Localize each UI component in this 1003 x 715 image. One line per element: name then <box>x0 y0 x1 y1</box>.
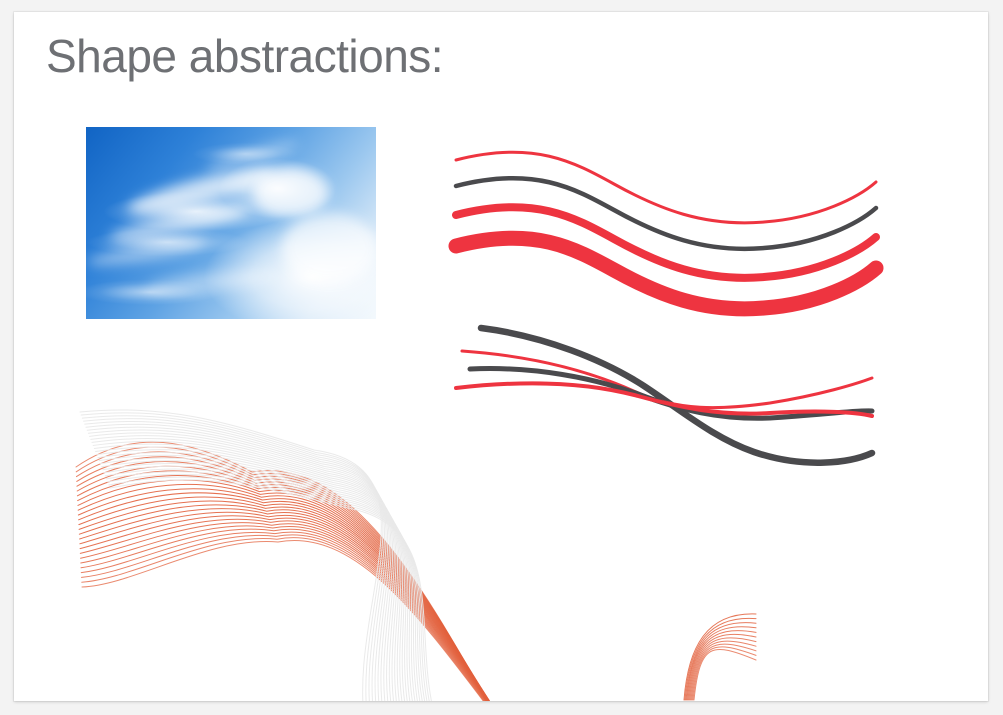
fan-line-orange <box>79 505 578 701</box>
fan-line-gray <box>80 410 381 701</box>
fan-line-orange <box>79 501 575 701</box>
fan-line-orange <box>81 532 604 701</box>
abstract-shapes-artwork <box>14 12 988 701</box>
fan-line-orange-small <box>693 647 756 700</box>
fan-large <box>76 410 614 701</box>
fan-line-orange <box>82 540 614 701</box>
slide-canvas: Shape abstractions: <box>0 0 1003 715</box>
fan-line-orange <box>80 519 591 701</box>
wave-group-bottom <box>456 328 872 463</box>
fan-small <box>684 614 756 700</box>
fan-line-orange <box>82 535 608 701</box>
fan-line-orange <box>79 493 570 701</box>
fan-line-orange <box>77 466 550 701</box>
fan-line-orange <box>81 529 601 701</box>
fan-line-orange <box>81 523 595 701</box>
fan-line-orange <box>80 516 588 701</box>
slide-page: Shape abstractions: <box>14 12 988 701</box>
wave-curve-red-thick <box>456 238 876 309</box>
fan-line-orange <box>76 452 540 701</box>
fan-line-orange <box>82 538 611 701</box>
wave-group-top <box>456 152 876 309</box>
fan-line-orange <box>80 512 585 701</box>
fan-line-gray <box>92 438 404 701</box>
wave-curve-red-thin <box>456 152 876 223</box>
